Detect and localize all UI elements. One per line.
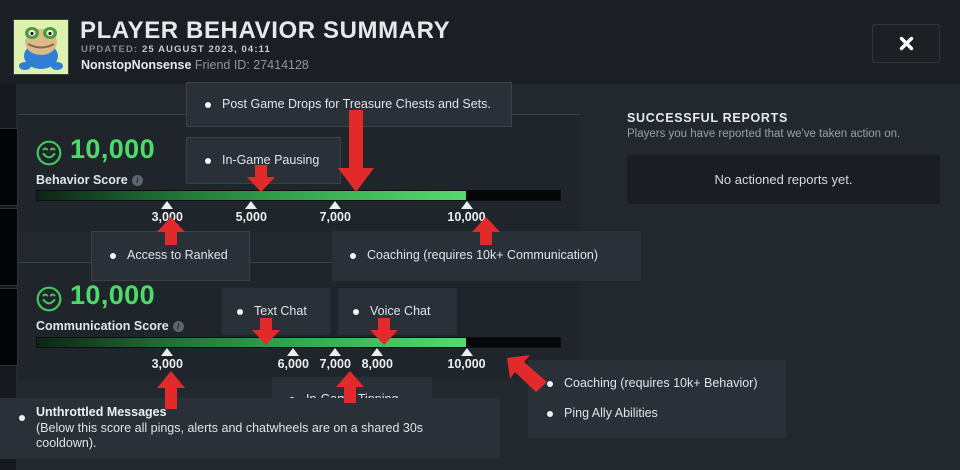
callout-text: Access to Ranked: [127, 248, 228, 264]
tick-label: 6,000: [278, 357, 309, 371]
info-icon[interactable]: i: [132, 175, 143, 186]
callout-row: Access to Ranked: [110, 248, 231, 264]
close-icon: [898, 35, 915, 52]
callout-text: Text Chat: [254, 304, 307, 320]
callout-text: Coaching (requires 10k+ Behavior): [564, 376, 758, 392]
callout-subtext: (Below this score all pings, alerts and …: [36, 421, 481, 452]
communication-score-ticks: 3,000 6,000 7,000 8,000 10,000: [36, 348, 561, 374]
successful-reports-empty-message: No actioned reports yet.: [714, 172, 852, 187]
callout-row: Ping Ally Abilities: [547, 406, 767, 422]
edge-box-bottom: [0, 288, 18, 366]
tick-marker-icon: [161, 201, 173, 209]
window-header: PLAYER BEHAVIOR SUMMARY UPDATED: 25 AUGU…: [0, 0, 960, 84]
bullet-icon: [205, 158, 211, 164]
arrow-down-behavior-7000: [336, 110, 376, 194]
callout-title: Unthrottled Messages: [36, 405, 481, 421]
page-title: PLAYER BEHAVIOR SUMMARY: [80, 17, 450, 45]
successful-reports-title: SUCCESSFUL REPORTS: [627, 111, 788, 125]
arrow-down-communication-6000: [250, 318, 282, 346]
communication-score-value: 10,000: [70, 280, 155, 311]
callout-row: Unthrottled Messages (Below this score a…: [19, 405, 481, 452]
arrow-up-communication-3000: [155, 370, 187, 410]
bullet-icon: [350, 253, 356, 259]
tick-label: 10,000: [447, 357, 485, 371]
bullet-icon: [547, 411, 553, 417]
tick-marker-icon: [287, 348, 299, 356]
arrow-up-left-icon: [505, 352, 551, 394]
behavior-score-bar: [36, 190, 561, 201]
callout-text: Ping Ally Abilities: [564, 406, 658, 422]
avatar: [13, 19, 69, 75]
tick-label: 7,000: [320, 210, 351, 224]
happy-face-icon: [36, 140, 62, 171]
arrow-up-icon: [334, 370, 366, 404]
callout-row: Coaching (requires 10k+ Communication): [350, 248, 623, 264]
tick-label: 3,000: [152, 357, 183, 371]
player-name: NonstopNonsense: [81, 58, 191, 72]
communication-score-bar: [36, 337, 561, 348]
arrow-down-communication-8000: [368, 318, 400, 346]
updated-value: 25 AUGUST 2023, 04:11: [142, 44, 271, 55]
successful-reports-subtitle: Players you have reported that we've tak…: [627, 128, 900, 140]
arrow-up-communication-7000: [334, 370, 366, 404]
callout-row: Coaching (requires 10k+ Behavior): [547, 376, 767, 392]
tick-marker-icon: [461, 348, 473, 356]
updated-prefix: UPDATED:: [81, 44, 138, 55]
bullet-icon: [205, 102, 211, 108]
arrow-up-behavior-10000: [470, 216, 502, 246]
arrow-diagonal-communication-10000: [505, 352, 551, 394]
tick-label: 8,000: [362, 357, 393, 371]
successful-reports-empty-box: No actioned reports yet.: [627, 155, 940, 204]
callout-unthrottled-messages: Unthrottled Messages (Below this score a…: [0, 398, 500, 459]
callout-text: Coaching (requires 10k+ Communication): [367, 248, 598, 264]
tick-marker-icon: [245, 201, 257, 209]
arrow-down-icon: [245, 165, 277, 193]
callout-row: Voice Chat: [353, 304, 442, 320]
arrow-down-icon: [250, 318, 282, 346]
info-icon[interactable]: i: [173, 321, 184, 332]
happy-face-icon: [36, 286, 62, 317]
edge-box-middle: [0, 208, 18, 286]
communication-score-label: Communication Scorei: [36, 319, 184, 333]
bullet-icon: [110, 253, 116, 259]
edge-box-top: [0, 128, 18, 206]
bullet-icon: [353, 309, 359, 315]
tick-label: 5,000: [236, 210, 267, 224]
tick-marker-icon: [371, 348, 383, 356]
callout-row: Text Chat: [237, 304, 315, 320]
tick-marker-icon: [461, 201, 473, 209]
arrow-up-behavior-3000: [155, 216, 187, 246]
arrow-up-icon: [155, 370, 187, 410]
friend-id: Friend ID: 27414128: [195, 58, 309, 72]
close-button[interactable]: [872, 24, 940, 63]
tick-marker-icon: [329, 201, 341, 209]
arrow-up-icon: [155, 216, 187, 246]
tick-marker-icon: [161, 348, 173, 356]
player-identity: NonstopNonsense Friend ID: 27414128: [81, 58, 309, 72]
tick-label: 7,000: [320, 357, 351, 371]
bullet-icon: [237, 309, 243, 315]
updated-timestamp: UPDATED: 25 AUGUST 2023, 04:11: [81, 44, 271, 55]
arrow-down-behavior-5000: [245, 165, 277, 193]
frog-avatar-icon: [14, 20, 68, 74]
callout-coaching-ping: Coaching (requires 10k+ Behavior) Ping A…: [528, 360, 786, 438]
behavior-score-value: 10,000: [70, 134, 155, 165]
behavior-score-label: Behavior Scorei: [36, 173, 143, 187]
arrow-up-icon: [470, 216, 502, 246]
arrow-down-icon: [368, 318, 400, 346]
arrow-down-icon: [336, 110, 376, 194]
player-behavior-summary-window: PLAYER BEHAVIOR SUMMARY UPDATED: 25 AUGU…: [0, 0, 960, 470]
tick-marker-icon: [329, 348, 341, 356]
bullet-icon: [19, 415, 25, 421]
callout-text: Voice Chat: [370, 304, 430, 320]
